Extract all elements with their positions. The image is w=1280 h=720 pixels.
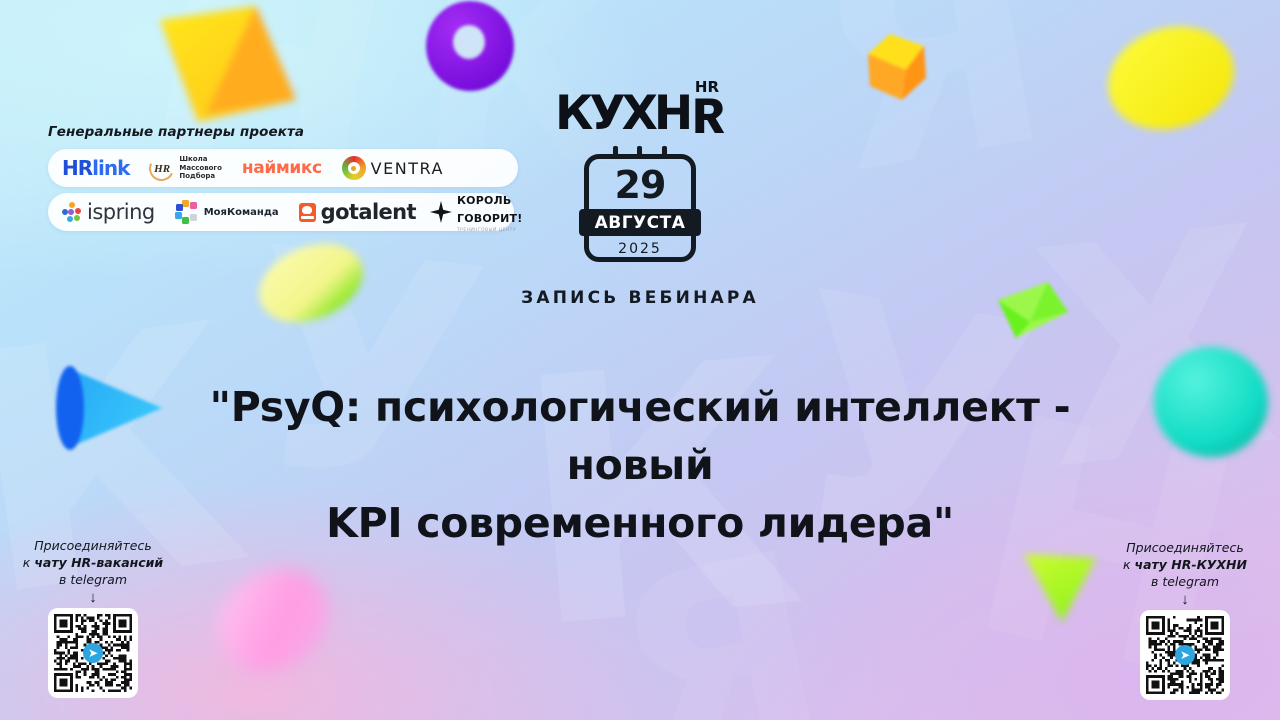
qr-block-hr-kuhnya: Присоединяйтесь к чату HR-КУХНИ в telegr…: [1100, 540, 1270, 700]
calendar-rings-icon: [589, 146, 691, 159]
calendar-year: 2025: [589, 241, 691, 257]
purple-torus-shape: [425, 0, 515, 92]
qr-right-line3: в telegram: [1151, 574, 1219, 589]
calendar-day: 29: [589, 166, 691, 204]
pink-ellipsoid-shape: [208, 562, 338, 678]
page-title-line1: "PsyQ: психологический интеллект - новый: [140, 378, 1140, 494]
telegram-icon: ➤: [83, 643, 103, 663]
qr-left-line2-prefix: к: [23, 555, 35, 570]
telegram-icon: ➤: [1175, 645, 1195, 665]
brand-block: КУХН Я HR 29 АВГУСТА 2025 ЗАПИСЬ ВЕБИНАР…: [0, 86, 1280, 308]
qr-block-vacancies: Присоединяйтесь к чату HR-вакансий в tel…: [8, 538, 178, 698]
page-title: "PsyQ: психологический интеллект - новый…: [0, 378, 1280, 553]
watermark-letter: Я: [601, 541, 840, 720]
kuhnya-logo-mirrored-ya: Я: [691, 90, 727, 145]
qr-right-arrow-icon: ↓: [1100, 592, 1270, 607]
qr-right-line2-bold: чату HR-КУХНИ: [1135, 557, 1247, 572]
qr-right-line2-prefix: к: [1123, 557, 1135, 572]
qr-left-line1: Присоединяйтесь: [34, 538, 151, 553]
calendar-month: АВГУСТА: [579, 209, 701, 236]
qr-right-caption: Присоединяйтесь к чату HR-КУХНИ в telegr…: [1100, 540, 1270, 590]
qr-left-arrow-icon: ↓: [8, 590, 178, 605]
kuhnya-logo-main: КУХН: [555, 86, 689, 141]
qr-left-caption: Присоединяйтесь к чату HR-вакансий в tel…: [8, 538, 178, 588]
kuhnya-logo: КУХН Я HR: [555, 86, 725, 140]
qr-code-hr-kuhnya[interactable]: ➤: [1140, 610, 1230, 700]
green-cone-shape: [1014, 540, 1114, 630]
qr-left-line3: в telegram: [59, 572, 127, 587]
webinar-type-label: ЗАПИСЬ ВЕБИНАРА: [521, 288, 759, 308]
qr-code-vacancies[interactable]: ➤: [48, 608, 138, 698]
kuhnya-logo-hr-superscript: HR: [695, 78, 719, 96]
event-date-calendar: 29 АВГУСТА 2025: [584, 154, 696, 262]
qr-left-line2-bold: чату HR-вакансий: [34, 555, 163, 570]
qr-right-line1: Присоединяйтесь: [1126, 540, 1243, 555]
page-title-line2: KPI современного лидера": [140, 494, 1140, 552]
